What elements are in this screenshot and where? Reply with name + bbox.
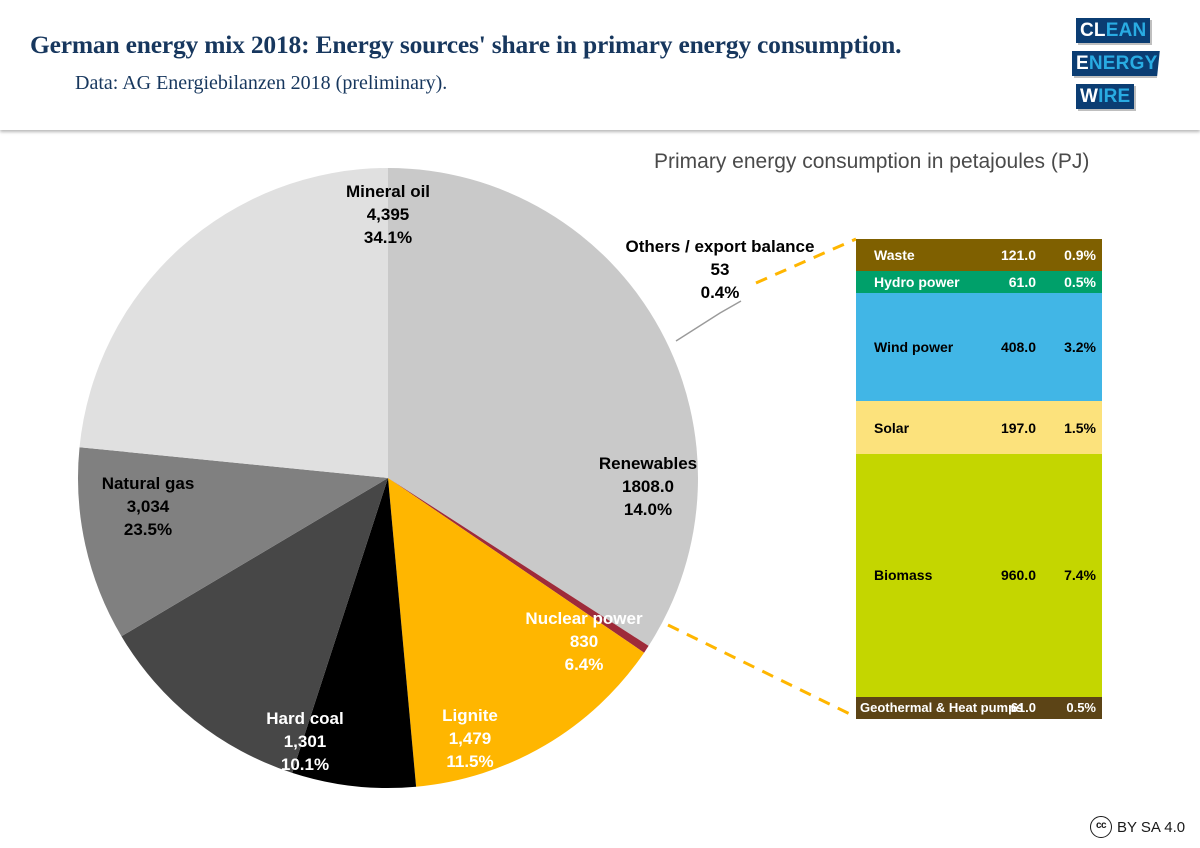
bar-segment-label: Waste <box>874 247 915 263</box>
logo-clean-accent: EAN <box>1106 20 1147 41</box>
pie-label-others-export-balance: Others / export balance 53 0.4% <box>615 235 825 304</box>
bar-segment-label: Hydro power <box>874 274 960 290</box>
bar-segment-percent: 7.4% <box>1048 567 1096 583</box>
pie-label-name: Renewables <box>548 452 748 475</box>
pie-label-mineral-oil: Mineral oil 4,395 34.1% <box>273 180 503 249</box>
bar-segment-waste[interactable]: Waste121.00.9% <box>856 239 1102 271</box>
page-title: German energy mix 2018: Energy sources' … <box>30 30 901 60</box>
logo-line-wire: WIRE <box>1076 84 1134 109</box>
bar-segment-value: 61.0 <box>976 700 1036 715</box>
bar-segment-label: Wind power <box>874 339 953 355</box>
pie-label-percent: 11.5% <box>380 750 560 773</box>
license-text: BY SA 4.0 <box>1117 819 1185 836</box>
pie-label-name: Others / export balance <box>615 235 825 258</box>
logo-line-energy: ENERGY <box>1072 51 1161 76</box>
pie-label-name: Nuclear power <box>489 607 679 630</box>
pie-label-value: 1,301 <box>215 730 395 753</box>
bar-segment-percent: 3.2% <box>1048 339 1096 355</box>
bar-segment-percent: 1.5% <box>1048 420 1096 436</box>
logo-clean-white: CL <box>1080 20 1106 41</box>
license-badge: cc BY SA 4.0 <box>1090 816 1185 838</box>
pie-label-value: 53 <box>615 258 825 281</box>
logo-energy-white: E <box>1076 53 1089 74</box>
pie-label-value: 1,479 <box>380 727 560 750</box>
pie-label-percent: 10.1% <box>215 753 395 776</box>
bar-segment-biomass[interactable]: Biomass960.07.4% <box>856 454 1102 697</box>
logo-wire-accent: IRE <box>1098 86 1130 107</box>
logo-wire-white: W <box>1080 86 1098 107</box>
pie-label-name: Hard coal <box>215 707 395 730</box>
pie-label-renewables: Renewables 1808.0 14.0% <box>548 452 748 521</box>
pie-label-lignite: Lignite 1,479 11.5% <box>380 704 560 773</box>
renewables-stacked-bar: Waste121.00.9%Hydro power61.00.5%Wind po… <box>856 239 1102 719</box>
bar-segment-label: Biomass <box>874 567 932 583</box>
bar-segment-percent: 0.5% <box>1048 274 1096 290</box>
pie-label-value: 4,395 <box>273 203 503 226</box>
bar-segment-percent: 0.9% <box>1048 247 1096 263</box>
pie-label-percent: 14.0% <box>548 498 748 521</box>
pie-label-value: 3,034 <box>58 495 238 518</box>
pie-label-name: Natural gas <box>58 472 238 495</box>
pie-label-percent: 23.5% <box>58 518 238 541</box>
bar-segment-label: Solar <box>874 420 909 436</box>
bar-segment-value: 408.0 <box>976 339 1036 355</box>
bar-segment-solar[interactable]: Solar197.01.5% <box>856 401 1102 453</box>
bar-segment-hydro-power[interactable]: Hydro power61.00.5% <box>856 271 1102 293</box>
pie-label-percent: 0.4% <box>615 281 825 304</box>
bar-segment-value: 61.0 <box>976 274 1036 290</box>
pie-label-natural-gas: Natural gas 3,034 23.5% <box>58 472 238 541</box>
pie-label-name: Lignite <box>380 704 560 727</box>
pie-label-percent: 34.1% <box>273 226 503 249</box>
pie-label-name: Mineral oil <box>273 180 503 203</box>
bar-segment-value: 197.0 <box>976 420 1036 436</box>
bar-segment-value: 121.0 <box>976 247 1036 263</box>
pie-label-value: 830 <box>489 630 679 653</box>
pie-label-percent: 6.4% <box>489 653 679 676</box>
pie-label-nuclear-power: Nuclear power 830 6.4% <box>489 607 679 676</box>
page-header: German energy mix 2018: Energy sources' … <box>0 0 1200 130</box>
bar-segment-percent: 0.5% <box>1048 700 1096 715</box>
pie-label-value: 1808.0 <box>548 475 748 498</box>
bar-segment-geothermal-heat-pumps[interactable]: Geothermal & Heat pumps61.00.5% <box>856 697 1102 719</box>
logo-energy-accent: NERGY <box>1089 53 1158 74</box>
pie-label-hard-coal: Hard coal 1,301 10.1% <box>215 707 395 776</box>
logo-line-clean: CLEAN <box>1076 18 1150 43</box>
bar-segment-value: 960.0 <box>976 567 1036 583</box>
bar-segment-wind-power[interactable]: Wind power408.03.2% <box>856 293 1102 401</box>
page-subtitle: Data: AG Energiebilanzen 2018 (prelimina… <box>75 72 447 95</box>
creative-commons-icon: cc <box>1090 816 1112 838</box>
